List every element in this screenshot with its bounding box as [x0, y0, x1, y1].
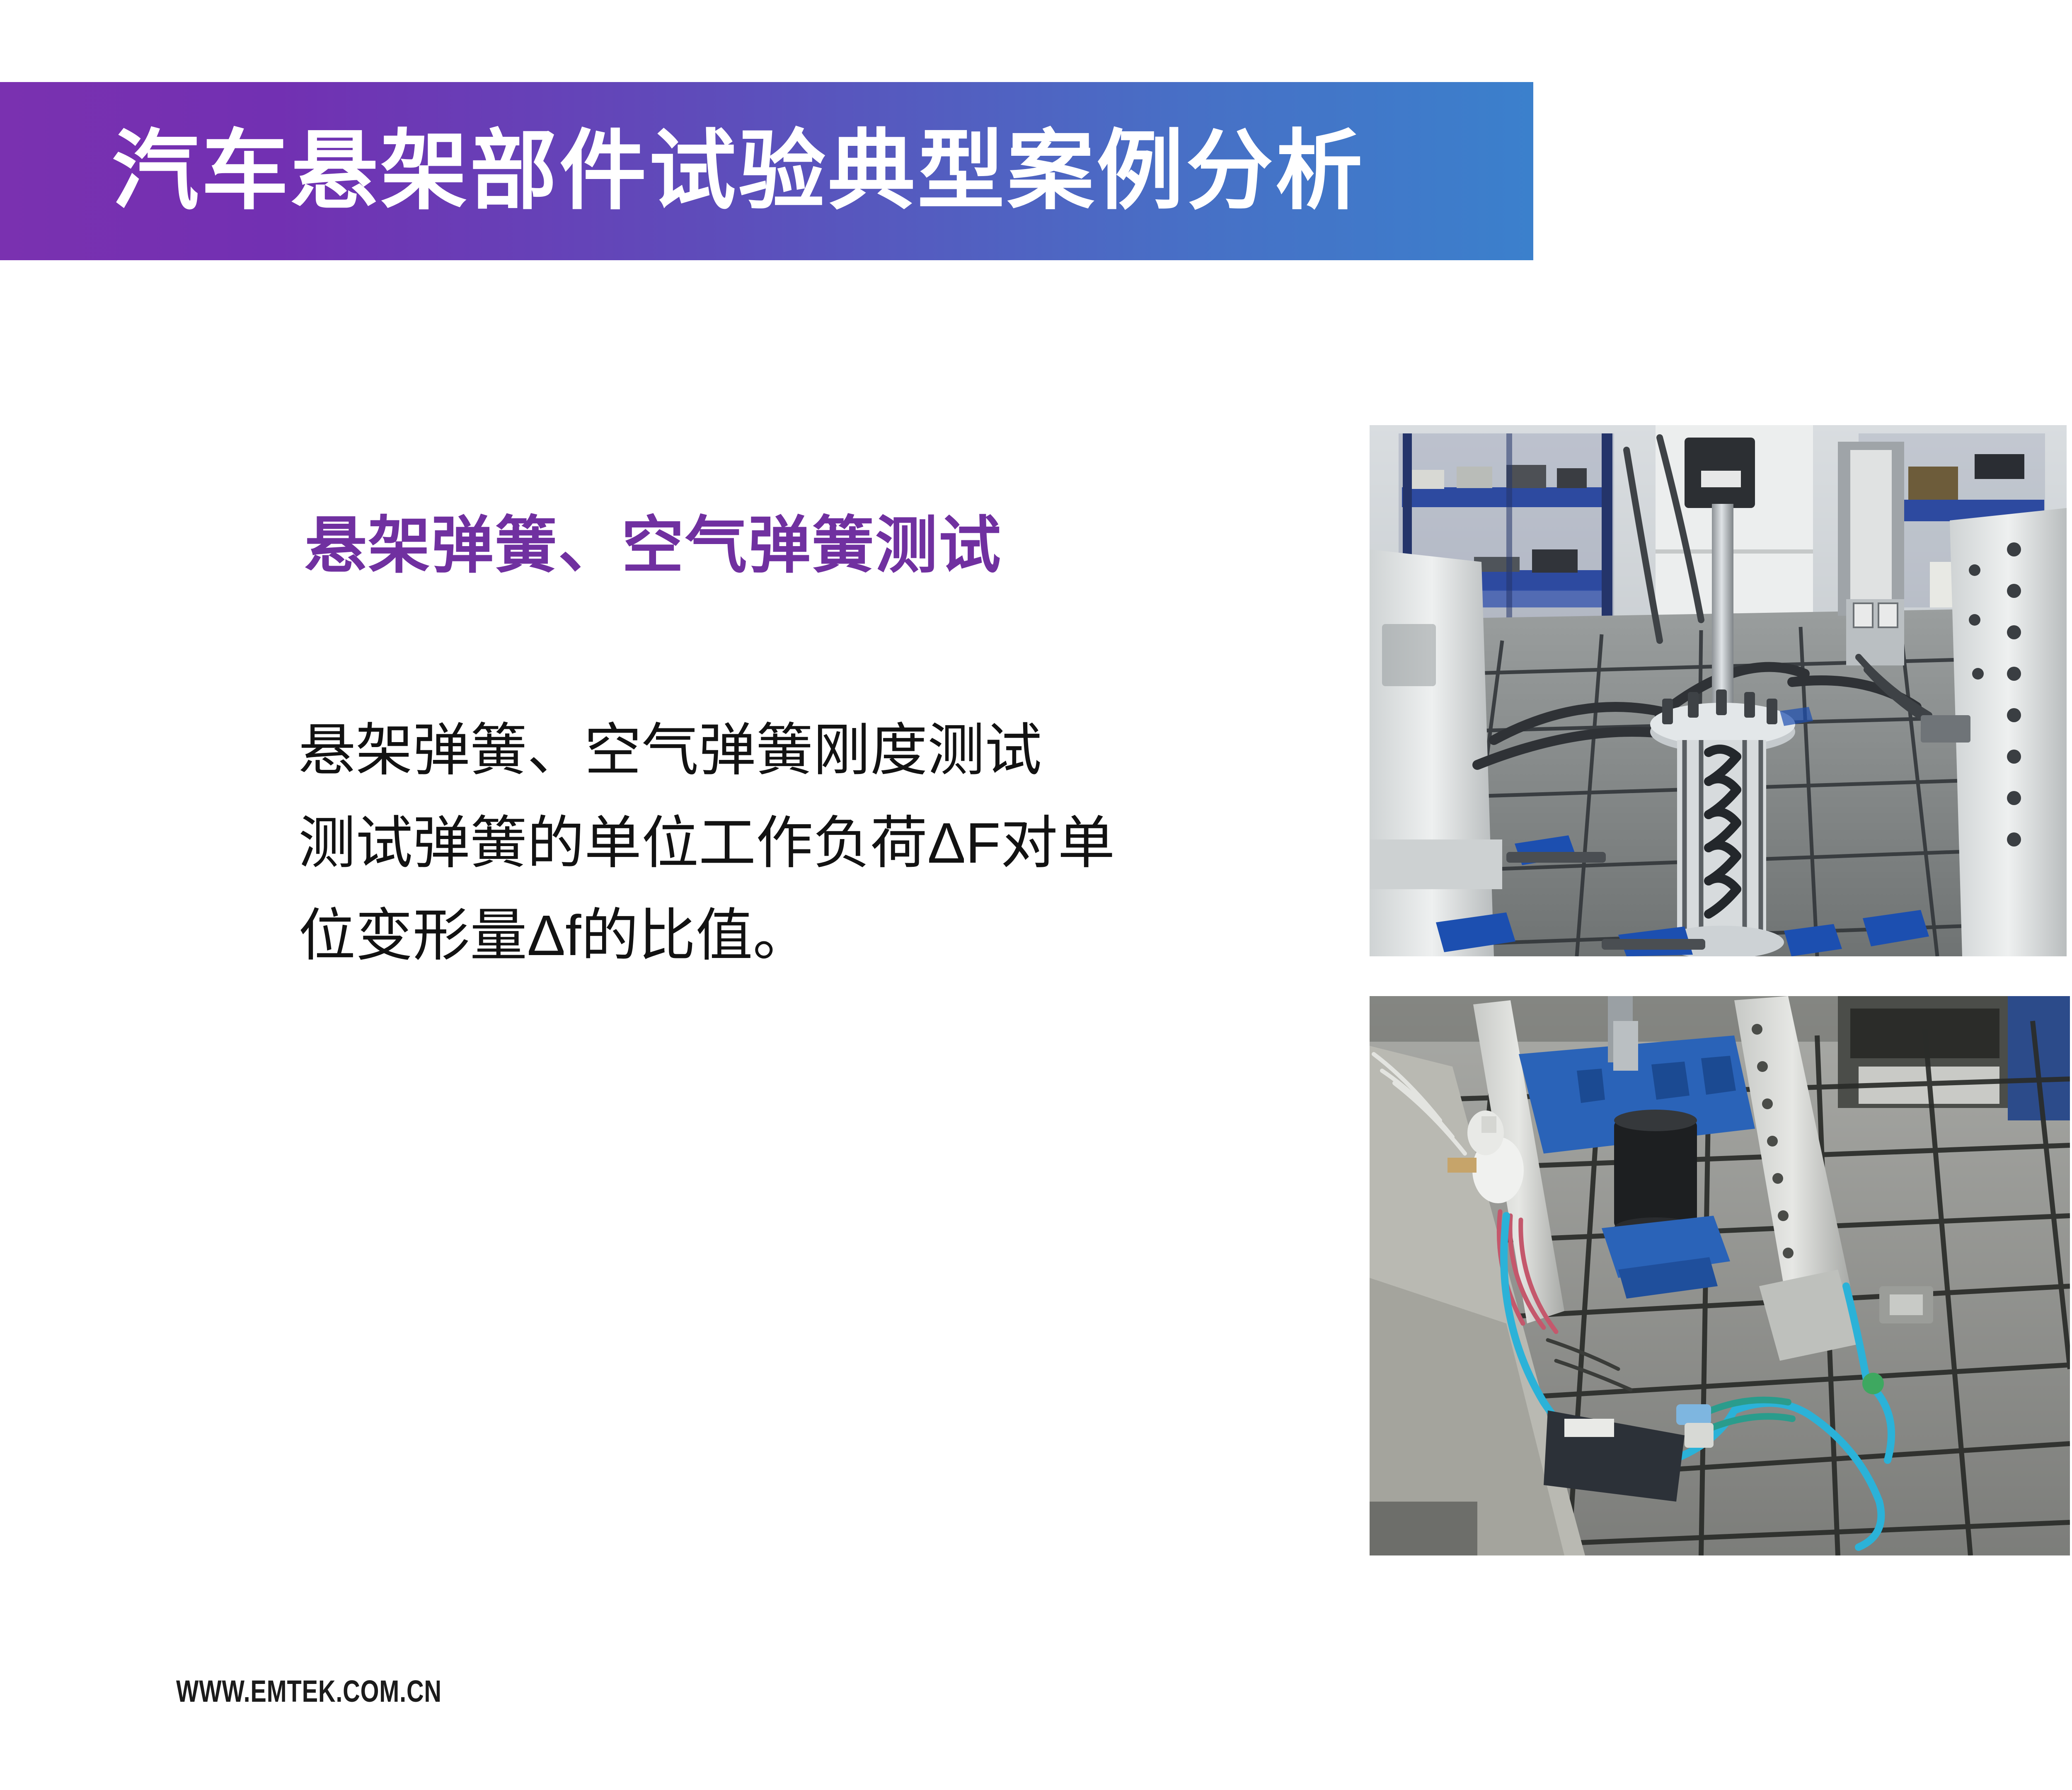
air-spring-test-photo [1370, 996, 2070, 1555]
paragraph-line-1: 悬架弹簧、空气弹簧刚度测试 [298, 704, 1301, 797]
section-heading: 悬架弹簧、空气弹簧测试 [305, 510, 1002, 581]
paragraph-line-2: 测试弹簧的单位工作负荷ΔF对单 [298, 797, 1301, 890]
title-banner: 汽车悬架部件试验典型案例分析 [0, 82, 1533, 260]
body-paragraph: 悬架弹簧、空气弹簧刚度测试 测试弹簧的单位工作负荷ΔF对单 位变形量Δf的比值。 [298, 704, 1301, 982]
paragraph-line-3: 位变形量Δf的比值。 [298, 890, 1301, 982]
footer-website-url[interactable]: WWW.EMTEK.COM.CN [176, 1674, 442, 1709]
page-title: 汽车悬架部件试验典型案例分析 [112, 128, 1365, 215]
slide-root: 汽车悬架部件试验典型案例分析 EMTEK 信测标准 300938 悬架弹簧、空气… [0, 0, 2072, 1790]
spring-test-rig-photo [1370, 425, 2067, 956]
